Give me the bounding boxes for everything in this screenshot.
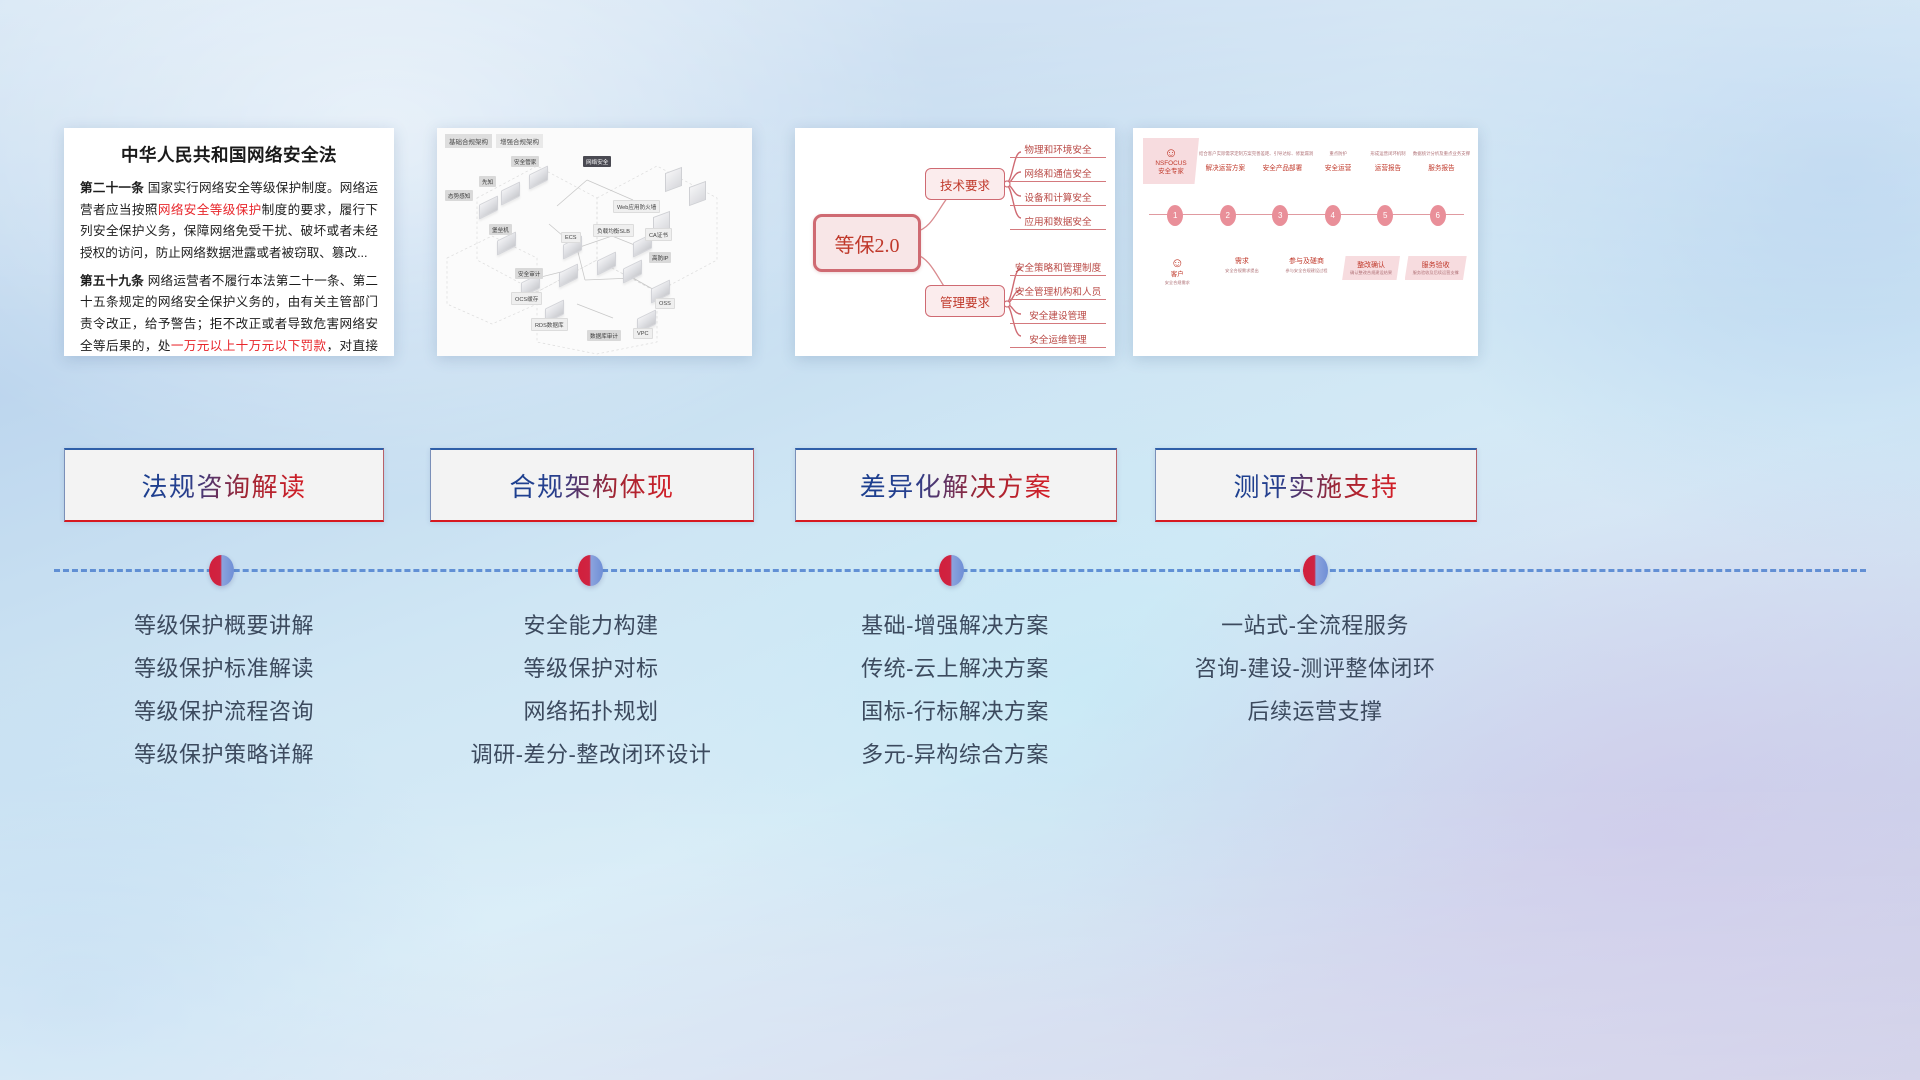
list-item: 等级保护标准解读 [64, 649, 384, 692]
mindmap-branch-technical: 技术要求 [925, 168, 1005, 200]
pillar-box-regulation-consulting[interactable]: 法规咨询解读 [64, 448, 384, 522]
arch-node-ecs: ECS [561, 232, 581, 243]
badge-role: 安全专家 [1158, 168, 1184, 176]
pillar-title-3: 差异化解决方案 [860, 467, 1053, 504]
expert-person-icon: ☺ [1164, 146, 1177, 159]
arch-node-rds: RDS数据库 [531, 318, 568, 331]
list-item: 国标-行标解决方案 [795, 692, 1115, 735]
arch-node-network-security: 网络安全 [583, 156, 611, 167]
arch-node-bastion-host: 堡垒机 [489, 224, 512, 235]
service-step-2: 2 [1202, 202, 1255, 228]
list-item: 等级保护概要讲解 [64, 606, 384, 649]
arch-node-situational-awareness: 态势感知 [445, 190, 473, 201]
service-infographic: ☺ NSFOCUS 安全专家 结合客户实际需求定制方案 解决运营方案 完善差距、… [1133, 128, 1478, 356]
arch-node-db-audit: 数据库审计 [587, 330, 621, 341]
mindmap-leaf-build: 安全建设管理 [1010, 308, 1106, 324]
service-header-1: 结合客户实际需求定制方案 解决运营方案 [1199, 138, 1252, 184]
article-21-label: 第二十一条 [80, 181, 144, 195]
service-header-5: 数据统计分析及重点业务支撑 服务报告 [1413, 138, 1470, 184]
service-step-3: 3 [1254, 202, 1307, 228]
timeline-node-2 [578, 555, 603, 586]
law-title: 中华人民共和国网络安全法 [80, 142, 378, 167]
pillar-box-compliance-architecture[interactable]: 合规架构体现 [430, 448, 754, 522]
arch-node-oss: OSS [655, 298, 675, 309]
slide-stage: 中华人民共和国网络安全法 第二十一条 国家实行网络安全等级保护制度。网络运营者应… [0, 0, 1920, 1080]
arch-node-security-butler: 安全管家 [511, 156, 539, 167]
list-item: 基础-增强解决方案 [795, 606, 1115, 649]
mindmap-leaf-network: 网络和通信安全 [1010, 166, 1106, 182]
mindmap-branch-management: 管理要求 [925, 285, 1005, 317]
law-article-59: 第五十九条 网络运营者不履行本法第二十一条、第二十五条规定的网络安全保护义务的，… [80, 271, 378, 356]
article-59-highlight-a: 一万元以上十万元以下罚款 [171, 339, 327, 353]
list-item: 多元-异构综合方案 [795, 735, 1115, 778]
law-article-21: 第二十一条 国家实行网络安全等级保护制度。网络运营者应当按照网络安全等级保护制度… [80, 178, 378, 265]
service-header-3: 重点防护 安全运营 [1313, 138, 1363, 184]
arch-node-waf: Web应用防火墙 [613, 200, 660, 213]
service-expert-badge: ☺ NSFOCUS 安全专家 [1143, 138, 1199, 184]
service-step-4: 4 [1307, 202, 1360, 228]
arch-node-security-audit: 安全审计 [515, 268, 543, 279]
arch-node-ca-cert: CA证书 [645, 228, 672, 241]
list-item: 调研-差分-整改闭环设计 [430, 735, 752, 778]
mindmap-leaf-app-data: 应用和数据安全 [1010, 214, 1106, 230]
service-header-4: 形成运营闭环机制 运营报告 [1363, 138, 1413, 184]
service-lower-4: 服务验收 服务验收及后续运营支撑 [1403, 256, 1468, 286]
mindmap-root: 等保2.0 [813, 214, 921, 272]
mindmap: 等保2.0 技术要求 管理要求 物理和环境安全 网络和通信安全 设备和计算安全 … [795, 128, 1115, 356]
customer-person-icon: ☺ [1171, 256, 1184, 269]
arch-node-slb: 负载均衡SLB [593, 224, 634, 237]
mindmap-leaf-device: 设备和计算安全 [1010, 190, 1106, 206]
card-mindmap-dengbao: 等保2.0 技术要求 管理要求 物理和环境安全 网络和通信安全 设备和计算安全 … [795, 128, 1115, 356]
service-tag-3: 整改确认 确认整改合规建设结果 [1342, 256, 1400, 280]
list-item: 等级保护对标 [430, 649, 752, 692]
service-step-1: 1 [1149, 202, 1202, 228]
service-customer: ☺ 客户 安全合规需求 [1145, 256, 1210, 286]
arch-node-ocs-cache: OCS缓存 [511, 292, 542, 305]
timeline-node-4 [1303, 555, 1328, 586]
service-header-2: 完善差距、引导达标、修复漏洞 安全产品部署 [1252, 138, 1313, 184]
pillar-box-differentiated-solution[interactable]: 差异化解决方案 [795, 448, 1117, 522]
timeline-node-1 [209, 555, 234, 586]
pillar-title-2: 合规架构体现 [509, 467, 674, 504]
service-lower-3: 整改确认 确认整改合规建设结果 [1339, 256, 1404, 286]
list-item: 咨询-建设-测评整体闭环 [1155, 649, 1475, 692]
arch-node-prophet: 先知 [479, 176, 496, 187]
card-service-timeline: ☺ NSFOCUS 安全专家 结合客户实际需求定制方案 解决运营方案 完善差距、… [1133, 128, 1478, 356]
service-step-6: 6 [1412, 202, 1465, 228]
service-lower-row: ☺ 客户 安全合规需求 需求 安全合规需求提出 参与及磋商 参与安全合规建设过程… [1145, 256, 1468, 286]
service-headers: 结合客户实际需求定制方案 解决运营方案 完善差距、引导达标、修复漏洞 安全产品部… [1199, 138, 1470, 184]
article-59-label: 第五十九条 [80, 274, 144, 288]
pillar-list-3: 基础-增强解决方案 传统-云上解决方案 国标-行标解决方案 多元-异构综合方案 [795, 606, 1115, 778]
service-lower-2: 参与及磋商 参与安全合规建设过程 [1274, 256, 1339, 286]
service-lower-1: 需求 安全合规需求提出 [1210, 256, 1275, 286]
pillar-title-4: 测评实施支持 [1233, 467, 1398, 504]
pillar-title-1: 法规咨询解读 [141, 467, 306, 504]
badge-brand: NSFOCUS [1155, 160, 1186, 168]
pillar-list-4: 一站式-全流程服务 咨询-建设-测评整体闭环 后续运营支撑 [1155, 606, 1475, 735]
article-21-highlight: 网络安全等级保护 [158, 203, 262, 217]
pillar-list-2: 安全能力构建 等级保护对标 网络拓扑规划 调研-差分-整改闭环设计 [430, 606, 752, 778]
mindmap-leaf-org: 安全管理机构和人员 [1010, 284, 1106, 300]
customer-icon-block: ☺ 客户 [1171, 256, 1184, 278]
list-item: 等级保护策略详解 [64, 735, 384, 778]
architecture-diagram: 基础合规架构 增强合规架构 [437, 128, 752, 356]
list-item: 网络拓扑规划 [430, 692, 752, 735]
card-compliance-architecture: 基础合规架构 增强合规架构 [437, 128, 752, 356]
list-item: 一站式-全流程服务 [1155, 606, 1475, 649]
law-document: 中华人民共和国网络安全法 第二十一条 国家实行网络安全等级保护制度。网络运营者应… [64, 128, 394, 356]
service-tag-4: 服务验收 服务验收及后续运营支撑 [1405, 256, 1467, 280]
service-step-markers: 1 2 3 4 5 6 [1149, 202, 1464, 228]
mindmap-leaf-policy: 安全策略和管理制度 [1010, 260, 1106, 276]
list-item: 等级保护流程咨询 [64, 692, 384, 735]
pillar-list-1: 等级保护概要讲解 等级保护标准解读 等级保护流程咨询 等级保护策略详解 [64, 606, 384, 778]
arch-node-anti-ddos: 高防IP [649, 252, 671, 263]
list-item: 安全能力构建 [430, 606, 752, 649]
service-step-5: 5 [1359, 202, 1412, 228]
arch-node-vpc: VPC [633, 328, 653, 339]
mindmap-leaf-ops: 安全运维管理 [1010, 332, 1106, 348]
mindmap-leaf-physical: 物理和环境安全 [1010, 142, 1106, 158]
list-item: 传统-云上解决方案 [795, 649, 1115, 692]
timeline-node-3 [939, 555, 964, 586]
service-header-band: ☺ NSFOCUS 安全专家 结合客户实际需求定制方案 解决运营方案 完善差距、… [1143, 138, 1470, 184]
list-item: 后续运营支撑 [1155, 692, 1475, 735]
card-cybersecurity-law: 中华人民共和国网络安全法 第二十一条 国家实行网络安全等级保护制度。网络运营者应… [64, 128, 394, 356]
pillar-box-assessment-support[interactable]: 测评实施支持 [1155, 448, 1477, 522]
